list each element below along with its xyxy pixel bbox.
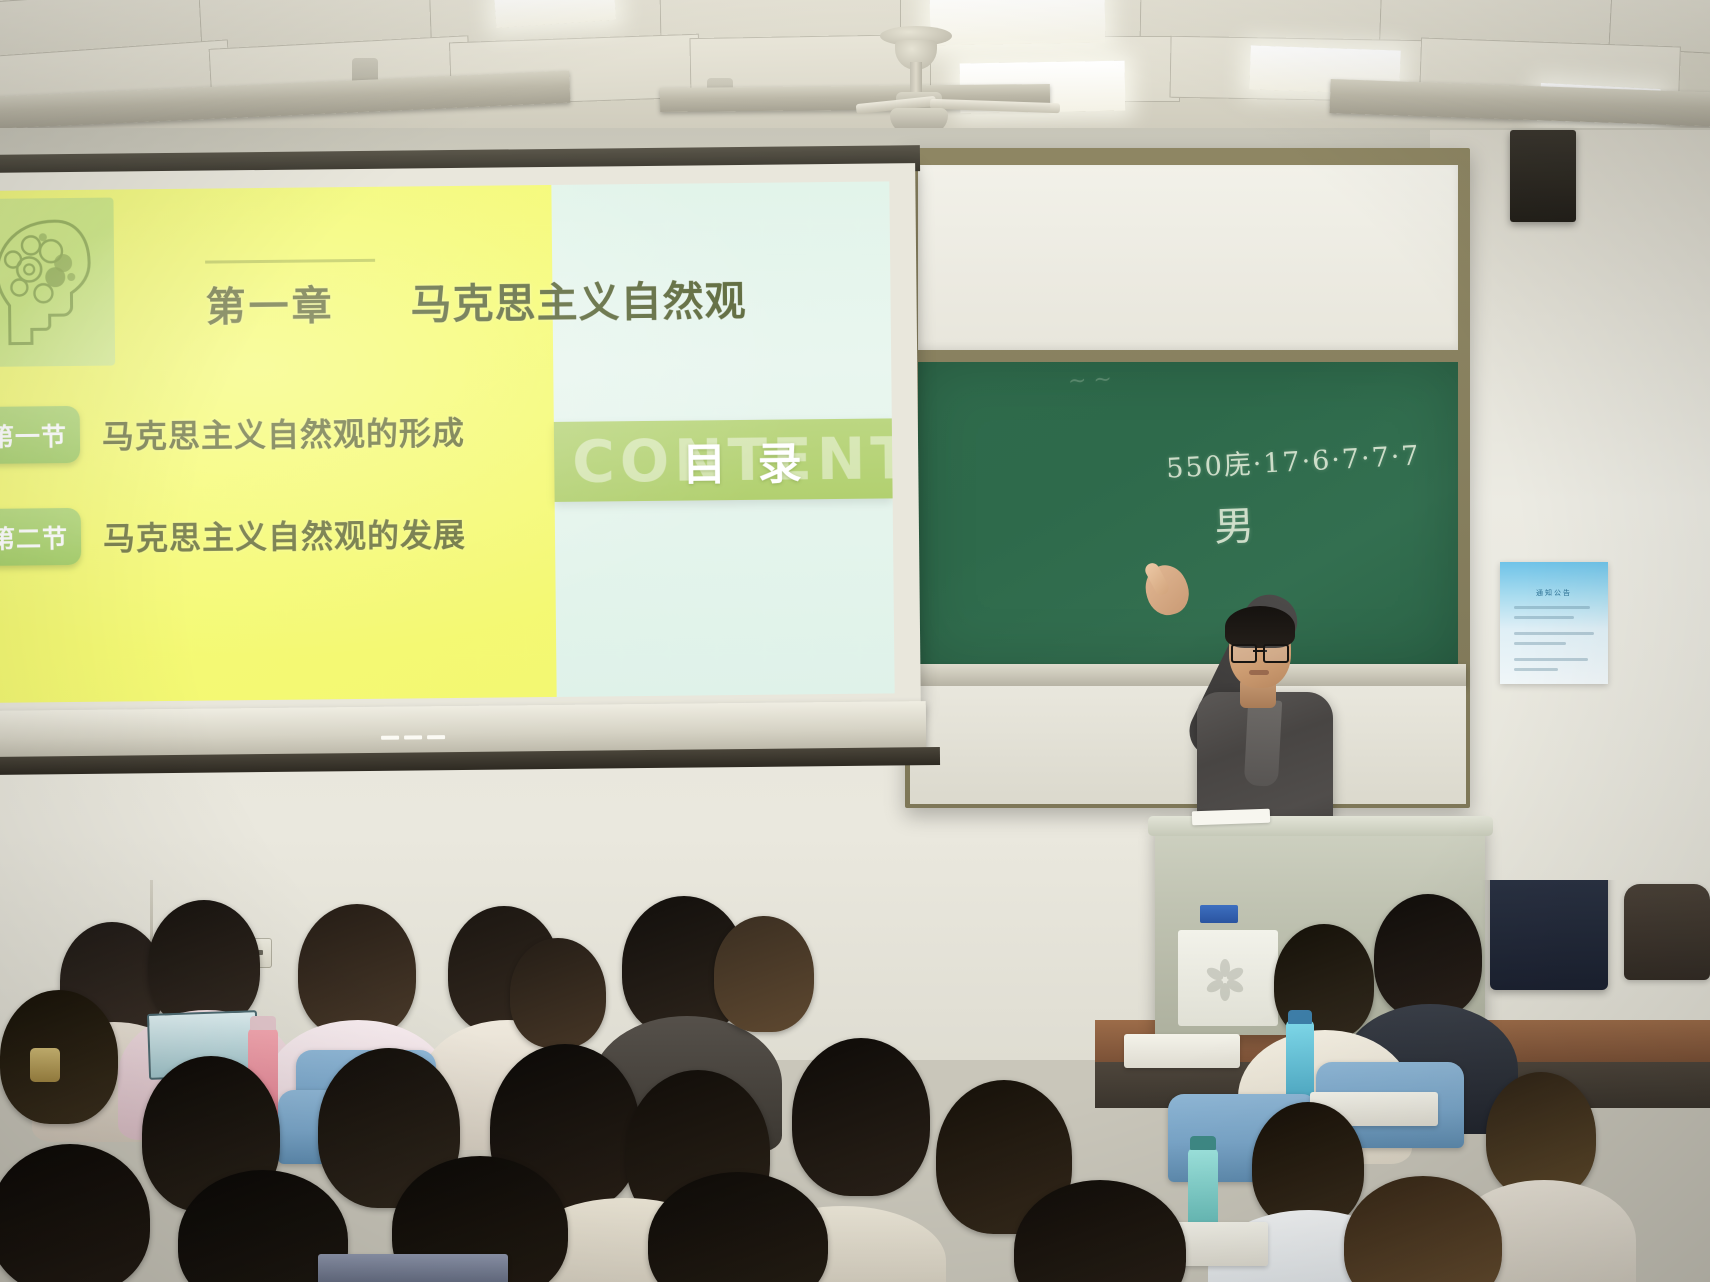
green-chalkboard: 550庑·17·6·7·7·7 男 ~ ~ bbox=[918, 362, 1458, 667]
section-badge-1: 第一节 bbox=[0, 406, 80, 464]
student-head bbox=[792, 1038, 930, 1196]
classroom-photo: 550庑·17·6·7·7·7 男 ~ ~ 通知公告 bbox=[0, 0, 1710, 1282]
bottle-cap bbox=[250, 1016, 276, 1030]
slide-chapter-number: 第一章 bbox=[205, 273, 335, 332]
section-text-2: 马克思主义自然观的发展 bbox=[103, 509, 466, 559]
chalk-writing-line-2: 男 bbox=[1213, 493, 1255, 552]
water-bottle bbox=[1286, 1020, 1314, 1102]
bottle-cap bbox=[1288, 1010, 1312, 1024]
section-text-1: 马克思主义自然观的形成 bbox=[102, 407, 465, 457]
wall-speaker-icon bbox=[1510, 130, 1576, 222]
brain-gears-icon-box bbox=[0, 198, 115, 368]
student-head bbox=[0, 1144, 150, 1282]
teacher-mouth bbox=[1249, 670, 1269, 675]
chalk-writing-line-1: 550庑·17·6·7·7·7 bbox=[1165, 433, 1421, 485]
student-head bbox=[298, 904, 416, 1038]
wall-poster: 通知公告 bbox=[1500, 562, 1608, 684]
section-badge-2: 第二节 bbox=[0, 508, 81, 566]
backpack bbox=[1490, 880, 1608, 990]
poster-heading: 通知公告 bbox=[1500, 588, 1608, 598]
bottle-cap bbox=[1190, 1136, 1216, 1150]
student-desk bbox=[318, 1254, 508, 1282]
teacher-hair bbox=[1225, 606, 1295, 648]
student-head bbox=[148, 900, 260, 1028]
student-head bbox=[1344, 1176, 1502, 1282]
student-head bbox=[1374, 894, 1482, 1018]
board-lower-wall bbox=[910, 686, 1466, 804]
student-audience bbox=[0, 880, 1710, 1282]
screen-brand-logo bbox=[378, 730, 448, 745]
whiteboard-panel bbox=[918, 165, 1458, 350]
student-head bbox=[714, 916, 814, 1032]
slide-chapter-title: 马克思主义自然观 bbox=[410, 267, 747, 331]
student-desk bbox=[1124, 1034, 1240, 1068]
contents-chinese-label: 目 录 bbox=[682, 427, 810, 492]
chalk-smudge: ~ ~ bbox=[1067, 367, 1112, 394]
slide-section-row-2: 第二节 马克思主义自然观的发展 bbox=[0, 504, 466, 566]
brain-gears-head-icon bbox=[0, 215, 98, 350]
student-head bbox=[510, 938, 606, 1048]
projection-screen: 第一章 马克思主义自然观 第一节 马克思主义自然观的形成 第二节 马克思主义自然… bbox=[0, 163, 921, 718]
chalk-tray bbox=[910, 664, 1466, 686]
auditorium-chair bbox=[1624, 884, 1710, 980]
ceiling-light-panel bbox=[930, 0, 1106, 46]
eyeglasses-icon bbox=[1231, 644, 1289, 659]
contents-band: CONTENTS 目 录 bbox=[554, 418, 893, 502]
hair-clip bbox=[30, 1048, 60, 1082]
teacher-jacket-lapel bbox=[1244, 699, 1282, 787]
presentation-slide: 第一章 马克思主义自然观 第一节 马克思主义自然观的形成 第二节 马克思主义自然… bbox=[0, 181, 895, 702]
lecture-notes bbox=[1192, 809, 1270, 826]
slide-section-row-1: 第一节 马克思主义自然观的形成 bbox=[0, 402, 465, 464]
